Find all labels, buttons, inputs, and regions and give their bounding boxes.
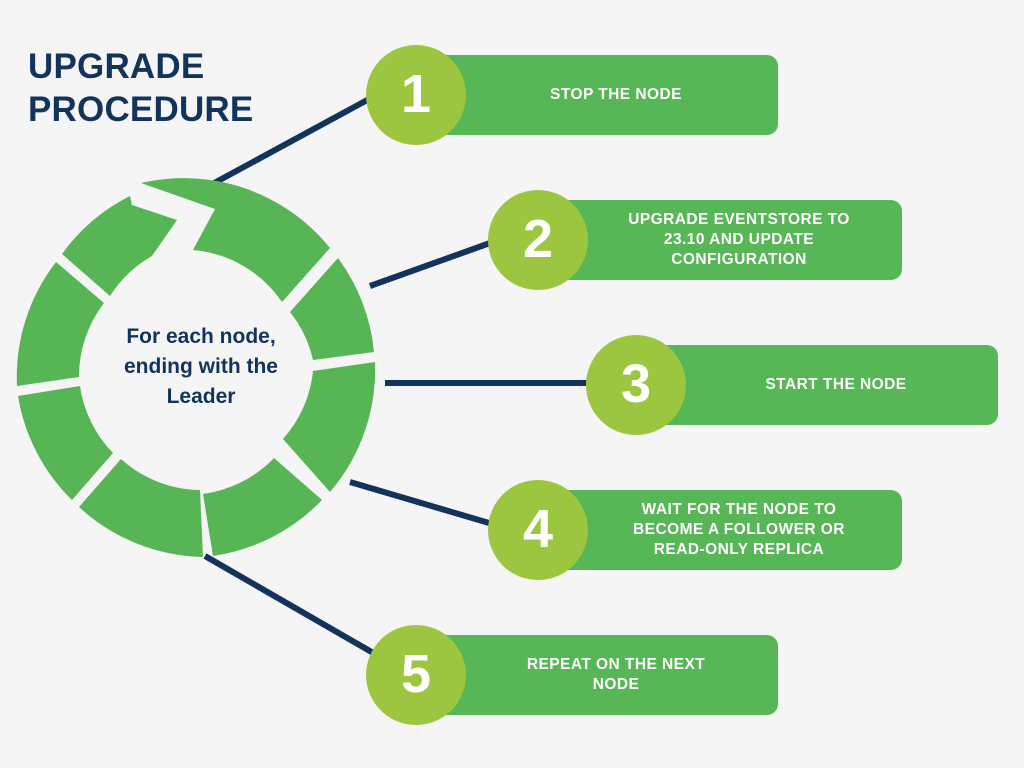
step-number-3: 3 bbox=[621, 357, 651, 411]
cycle-segment-5 bbox=[79, 459, 203, 557]
step-label-4: WAIT FOR THE NODE TO BECOME A FOLLOWER O… bbox=[587, 500, 859, 559]
step-circle-5[interactable]: 5 bbox=[366, 625, 466, 725]
step-bar-3[interactable]: START THE NODE bbox=[642, 345, 998, 425]
step-item-1[interactable]: STOP THE NODE 1 bbox=[366, 45, 778, 125]
step-circle-3[interactable]: 3 bbox=[586, 335, 686, 435]
connector-line-5 bbox=[205, 556, 382, 658]
step-circle-1[interactable]: 1 bbox=[366, 45, 466, 145]
step-circle-4[interactable]: 4 bbox=[488, 480, 588, 580]
step-bar-4[interactable]: WAIT FOR THE NODE TO BECOME A FOLLOWER O… bbox=[544, 490, 902, 570]
cycle-segment-arrowhead bbox=[141, 178, 330, 302]
cycle-center-label: For each node, ending with the Leader bbox=[78, 322, 324, 411]
step-number-5: 5 bbox=[401, 647, 431, 701]
step-label-1: STOP THE NODE bbox=[504, 85, 696, 105]
step-item-2[interactable]: UPGRADE EVENTSTORE TO 23.10 AND UPDATE C… bbox=[488, 190, 902, 270]
step-number-2: 2 bbox=[523, 212, 553, 266]
step-circle-2[interactable]: 2 bbox=[488, 190, 588, 290]
page-title: UPGRADE PROCEDURE bbox=[28, 46, 358, 131]
infographic-canvas: UPGRADE PROCEDURE bbox=[0, 0, 1024, 768]
cycle-segment-4 bbox=[203, 458, 322, 556]
step-bar-5[interactable]: REPEAT ON THE NEXT NODE bbox=[422, 635, 778, 715]
step-number-1: 1 bbox=[401, 67, 431, 121]
cycle-segment-8 bbox=[62, 196, 177, 296]
step-item-5[interactable]: REPEAT ON THE NEXT NODE 5 bbox=[366, 625, 778, 705]
step-item-4[interactable]: WAIT FOR THE NODE TO BECOME A FOLLOWER O… bbox=[488, 480, 902, 560]
step-bar-2[interactable]: UPGRADE EVENTSTORE TO 23.10 AND UPDATE C… bbox=[544, 200, 902, 280]
step-item-3[interactable]: START THE NODE 3 bbox=[586, 335, 998, 415]
step-bar-1[interactable]: STOP THE NODE bbox=[422, 55, 778, 135]
step-number-4: 4 bbox=[523, 502, 553, 556]
step-label-3: START THE NODE bbox=[719, 375, 920, 395]
step-label-2: UPGRADE EVENTSTORE TO 23.10 AND UPDATE C… bbox=[582, 210, 864, 269]
step-label-5: REPEAT ON THE NEXT NODE bbox=[481, 655, 719, 695]
